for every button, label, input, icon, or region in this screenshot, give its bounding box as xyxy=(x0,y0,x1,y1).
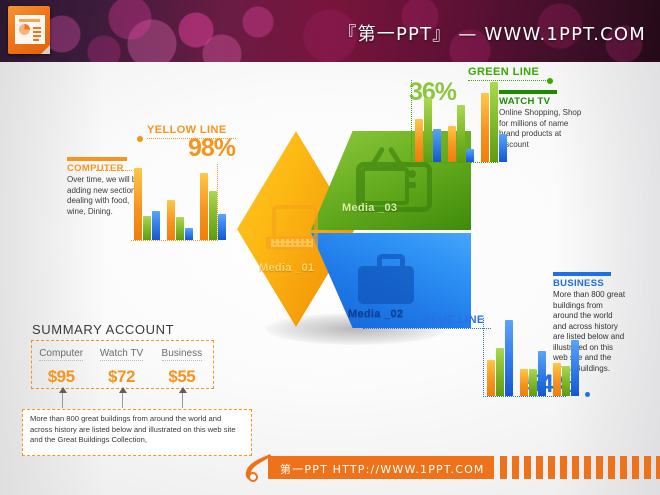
logo-text-line xyxy=(33,27,41,29)
media-02-label: Media _02 xyxy=(348,308,403,320)
green-bar-chart xyxy=(411,80,498,163)
watch-tv-title-rule xyxy=(499,90,557,94)
summary-label: Computer xyxy=(39,348,83,361)
logo-text-line xyxy=(33,31,41,33)
bar-group xyxy=(415,80,441,162)
business-title: BUSINESS xyxy=(553,278,627,289)
up-arrow-connector xyxy=(62,392,63,408)
yellow-bar-chart xyxy=(131,164,218,241)
blue-bar-chart xyxy=(483,318,566,397)
bar-group xyxy=(520,318,546,396)
summary-value: $72 xyxy=(91,367,151,387)
logo-document-glyph xyxy=(15,15,45,44)
up-arrow-connector xyxy=(182,392,183,408)
summary-column-watch-tv: Watch TV $72 xyxy=(91,343,151,387)
logo-text-line xyxy=(33,39,39,41)
blue-dotted-rule xyxy=(363,328,491,329)
up-arrow-connector xyxy=(122,392,123,408)
slide-header-banner: 『第一PPT』 — WWW.1PPT.COM xyxy=(0,0,660,62)
summary-account-title: SUMMARY ACCOUNT xyxy=(32,322,174,337)
header-title: 『第一PPT』 — WWW.1PPT.COM xyxy=(338,20,646,46)
yellow-connector-line xyxy=(96,170,132,171)
summary-column-business: Business $55 xyxy=(152,343,212,387)
bar-group xyxy=(448,80,474,162)
slide-canvas: 『第一PPT』 — WWW.1PPT.COM Media _01 Media _… xyxy=(0,0,660,495)
laptop-icon xyxy=(266,205,318,253)
media-03-label: Media _03 xyxy=(342,202,397,214)
bar-group xyxy=(487,318,513,396)
bar-group xyxy=(553,318,579,396)
bar-group xyxy=(134,164,160,240)
media-01-label: Media _01 xyxy=(259,262,314,274)
summary-value: $95 xyxy=(31,367,91,387)
blue-bullet-dot xyxy=(585,392,590,397)
summary-label: Watch TV xyxy=(100,348,143,361)
briefcase-icon xyxy=(358,254,414,304)
blue-line-label: BLUE LINE xyxy=(423,314,485,326)
watch-tv-info-box: WATCH TV Online Shopping, Shop for milli… xyxy=(499,90,585,150)
footnote-text: More than 800 great buildings from aroun… xyxy=(30,414,244,446)
bar-group xyxy=(167,164,193,240)
green-line-text: GREEN LINE xyxy=(468,66,539,78)
yellow-percent-value: 98% xyxy=(188,136,235,161)
logo-pie-icon xyxy=(19,24,30,35)
blue-line-text: BLUE LINE xyxy=(423,314,485,326)
logo-text-line xyxy=(33,35,41,37)
watch-tv-body-text: Online Shopping, Shop for millions of na… xyxy=(499,108,585,150)
summary-columns: Computer $95 Watch TV $72 Business $55 xyxy=(31,343,212,387)
yellow-bullet-dot xyxy=(137,136,143,142)
powerpoint-logo-icon xyxy=(8,6,50,54)
bar-group xyxy=(200,164,226,240)
footer-stripes xyxy=(500,456,660,479)
bar-group xyxy=(481,80,507,162)
business-title-rule xyxy=(553,272,611,276)
summary-label: Business xyxy=(162,348,203,361)
summary-column-computer: Computer $95 xyxy=(31,343,91,387)
watch-tv-title: WATCH TV xyxy=(499,96,585,107)
green-line-label: GREEN LINE xyxy=(468,66,539,78)
footer-text: 第一PPT HTTP://WWW.1PPT.COM xyxy=(280,461,485,477)
summary-value: $55 xyxy=(152,367,212,387)
computer-title-rule xyxy=(67,157,127,161)
logo-title-bar xyxy=(19,19,40,22)
